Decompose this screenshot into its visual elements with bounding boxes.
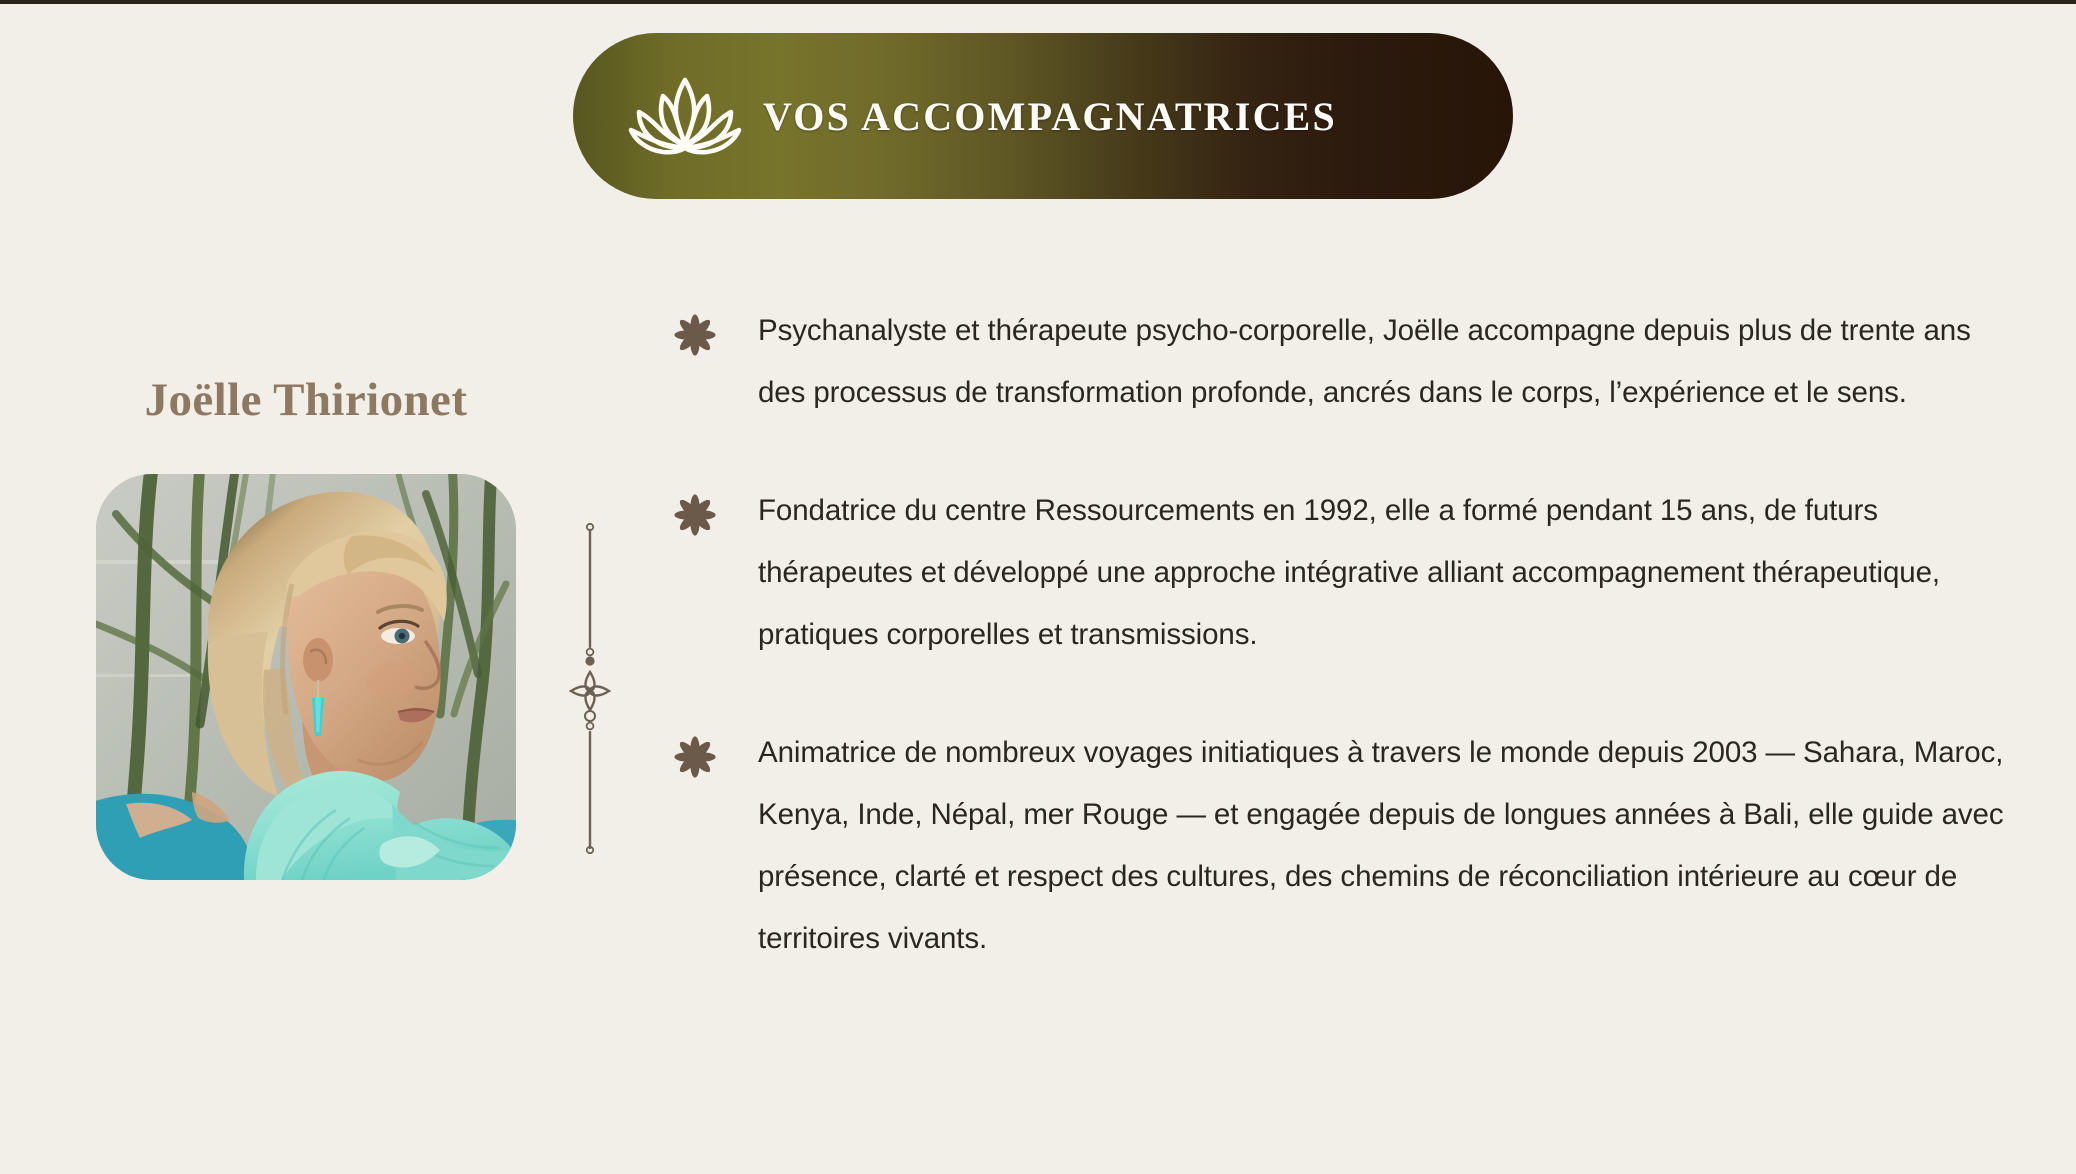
person-name: Joëlle Thirionet [96,375,516,427]
list-item: Animatrice de nombreux voyages initiatiq… [672,722,2012,970]
accompagnatrice-bio-list: Psychanalyste et thérapeute psycho-corpo… [672,300,2012,970]
list-item: Psychanalyste et thérapeute psycho-corpo… [672,300,2012,424]
flower-asterisk-icon [672,722,758,780]
flower-asterisk-icon [672,480,758,538]
list-item-text: Psychanalyste et thérapeute psycho-corpo… [758,300,2012,424]
list-item-text: Animatrice de nombreux voyages initiatiq… [758,722,2012,970]
person-portrait-photo [96,474,516,880]
page-root: VOS ACCOMPAGNATRICES Joëlle Thirionet [0,0,2076,1174]
list-item-text: Fondatrice du centre Ressourcements en 1… [758,480,2012,666]
top-rule-divider [0,0,2076,4]
list-item: Fondatrice du centre Ressourcements en 1… [672,480,2012,666]
section-header-title: VOS ACCOMPAGNATRICES [763,93,1337,140]
flower-asterisk-icon [672,300,758,358]
lotus-icon [573,33,763,199]
vertical-flourish-ornament-icon [563,520,617,856]
section-header-banner: VOS ACCOMPAGNATRICES [573,33,1513,199]
